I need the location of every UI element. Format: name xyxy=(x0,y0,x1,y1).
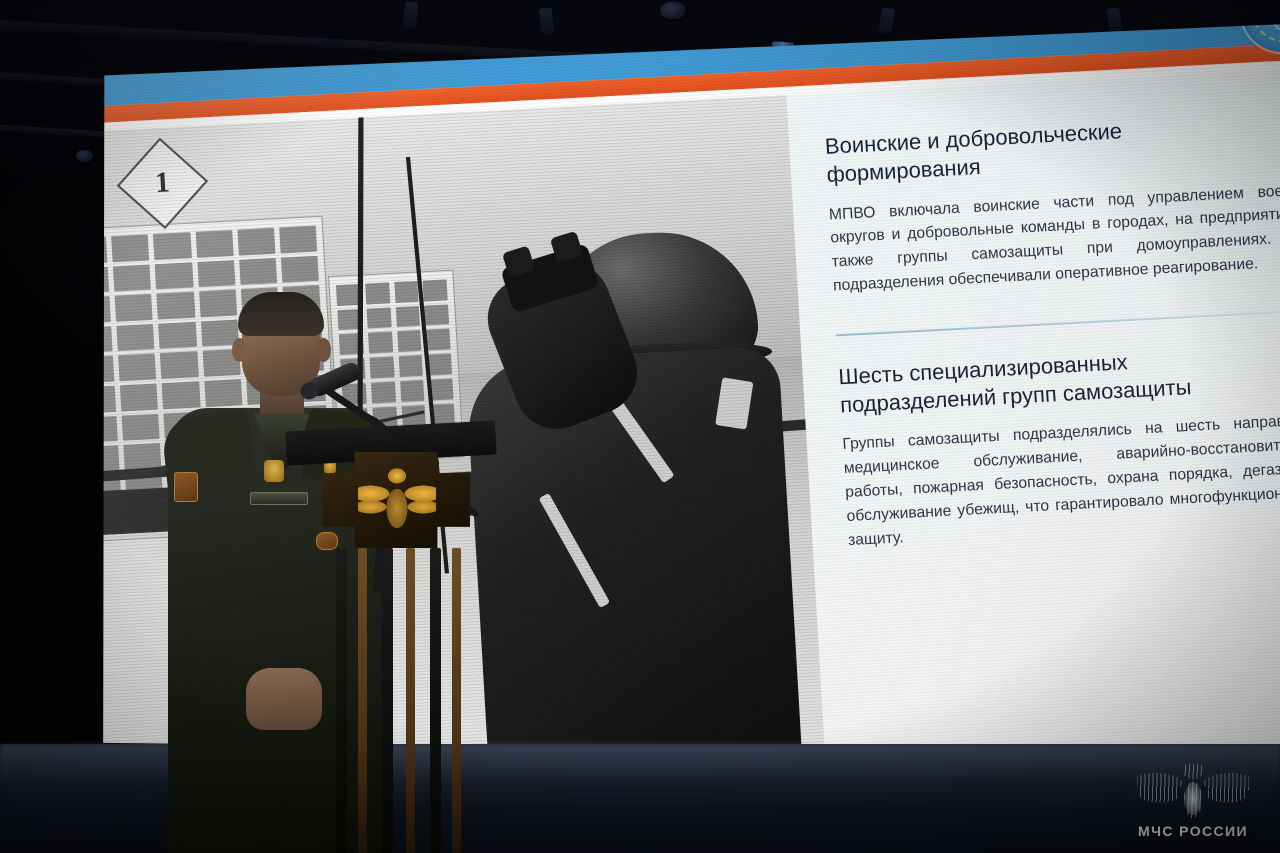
lectern-leg xyxy=(336,548,347,853)
photo-building-windows xyxy=(96,226,333,533)
speaker-neck xyxy=(260,388,304,422)
photo-helmet-rim xyxy=(548,338,773,377)
stage-light-icon xyxy=(240,168,257,180)
text-block-body-2: Группы самозащиты подразделялись на шест… xyxy=(842,408,1280,553)
lectern-leg xyxy=(406,548,415,853)
uniform-chest-badge-icon xyxy=(264,460,284,482)
spotlight-housing-icon xyxy=(1106,7,1122,35)
photo-strap xyxy=(715,377,753,429)
stage-light-icon xyxy=(660,2,686,19)
text-block-body-1: МПВО включала воинские части под управле… xyxy=(828,178,1280,299)
ceiling-lighting-rig xyxy=(0,0,1280,180)
photo-helmet-icon xyxy=(548,228,761,376)
truss-beam xyxy=(0,18,1280,105)
light-glint xyxy=(1180,64,1201,72)
speaker-ear-left xyxy=(232,338,247,362)
spotlight-housing-icon xyxy=(877,7,895,35)
spotlight-housing-icon xyxy=(1233,29,1253,58)
light-glint xyxy=(952,106,966,110)
lectern-legs xyxy=(330,548,470,853)
photo-strap xyxy=(539,493,611,608)
photo-torso xyxy=(465,346,804,759)
photo-strap xyxy=(567,339,675,484)
speaker-shoulder-left xyxy=(161,410,256,489)
lectern-leg xyxy=(382,548,393,853)
text-block-heading-2: Шесть специализированных подразделений г… xyxy=(838,340,1280,420)
section-divider xyxy=(836,308,1280,336)
auditorium-stage: Организационная структура и подразделени… xyxy=(0,0,1280,853)
light-glint xyxy=(772,41,794,48)
stage-light-icon xyxy=(76,150,93,162)
lectern-leg xyxy=(452,548,461,853)
photo-arm xyxy=(475,250,649,441)
lectern-leg xyxy=(430,548,441,853)
truss-beam xyxy=(0,122,1280,180)
speaker-hair xyxy=(238,292,324,336)
spotlight-housing-icon xyxy=(403,1,419,28)
mchs-eagle-emblem-icon xyxy=(358,464,436,538)
lectern-leg xyxy=(358,548,367,853)
stage-floor-reflection xyxy=(0,744,1280,814)
photo-binoculars-icon xyxy=(500,243,600,313)
lectern xyxy=(300,452,490,853)
uniform-sleeve-patch-icon xyxy=(174,472,198,502)
speaker-ear-right xyxy=(316,338,331,362)
stage-light-icon xyxy=(1058,86,1084,103)
light-glint xyxy=(976,107,994,114)
spotlight-housing-icon xyxy=(539,7,554,34)
